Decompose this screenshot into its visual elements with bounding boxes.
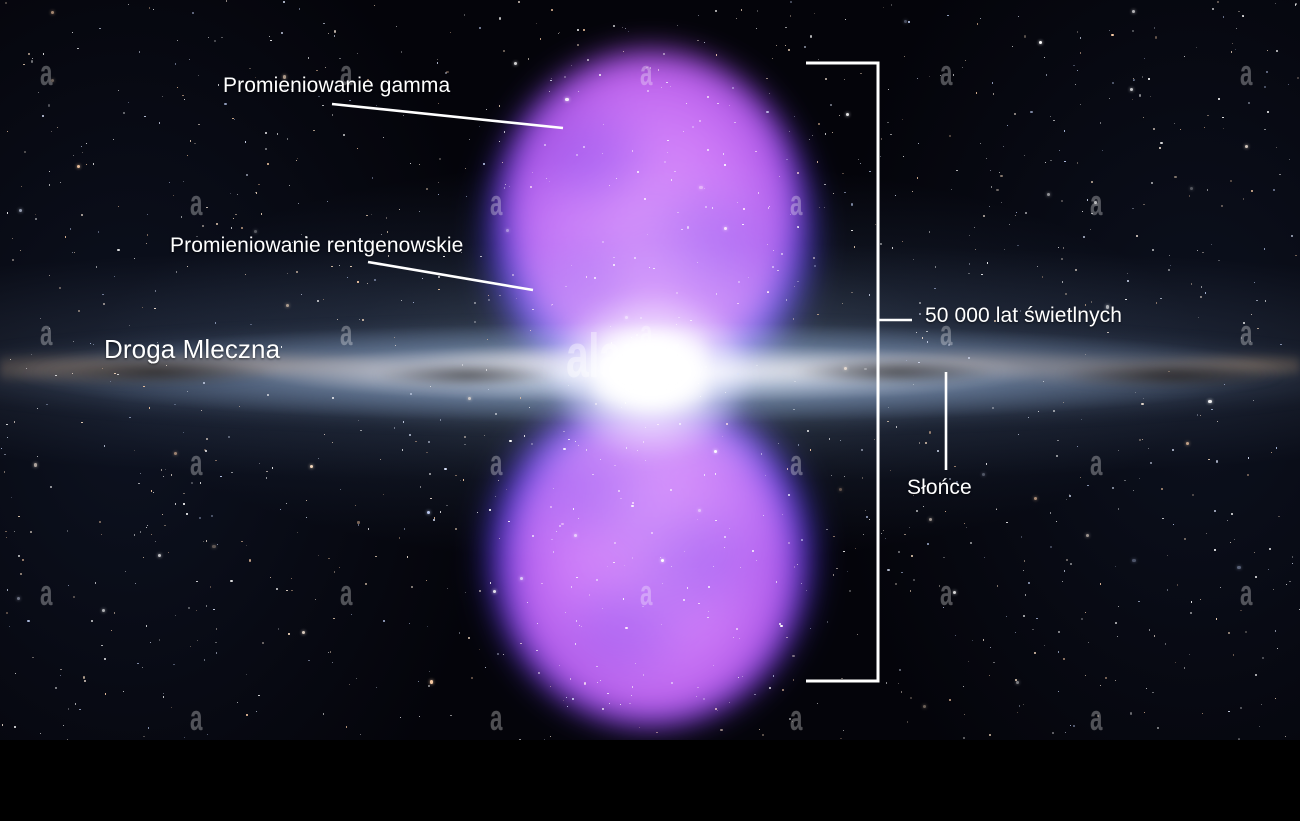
label-gamma-radiation: Promieniowanie gamma — [223, 74, 450, 98]
xray-leader-line — [368, 262, 533, 290]
scale-bracket — [806, 63, 878, 681]
label-xray-radiation: Promieniowanie rentgenowskie — [170, 234, 463, 258]
footer-bar: alamy Image ID: KRJDNN www.alamy.com — [0, 740, 1300, 821]
label-scale-distance: 50 000 lat świetlnych — [925, 304, 1122, 328]
astronomy-photo: Promieniowanie gamma Promieniowanie rent… — [0, 0, 1300, 740]
screenshot-root: Promieniowanie gamma Promieniowanie rent… — [0, 0, 1300, 821]
label-milky-way: Droga Mleczna — [104, 334, 280, 365]
gamma-leader-line — [332, 104, 563, 128]
annotation-lines — [0, 0, 1300, 740]
label-sun: Słońce — [907, 476, 972, 500]
